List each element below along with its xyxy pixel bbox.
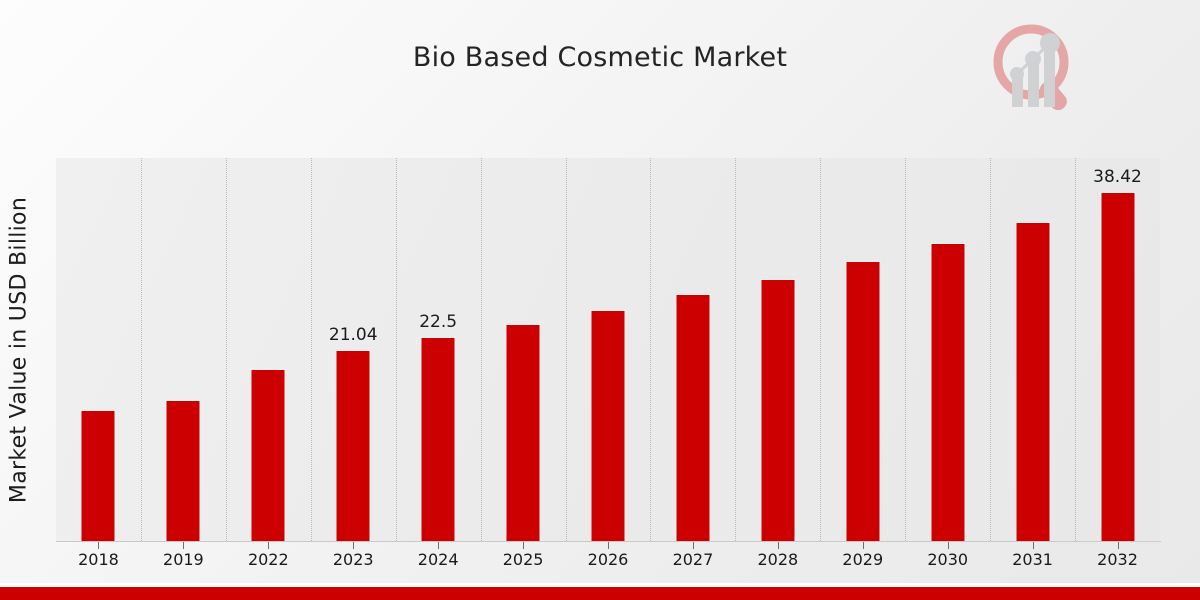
bar-group[interactable] [905,158,990,541]
x-axis-label-2022: 2022 [248,550,289,569]
x-axis-label-2025: 2025 [503,550,544,569]
bar-2024[interactable] [421,337,456,541]
x-axis-label-2026: 2026 [588,550,629,569]
bar-value-label-2024: 22.5 [419,312,457,332]
x-tick [98,542,99,549]
bar-2030[interactable] [930,243,965,541]
x-axis-label-2027: 2027 [673,550,714,569]
x-tick [863,542,864,549]
bar-2029[interactable] [845,261,880,541]
y-axis-title: Market Value in USD Billion [7,197,32,503]
bar-group[interactable] [56,158,141,541]
bar-value-label-2023: 21.04 [329,325,378,345]
x-axis-label-2018: 2018 [78,550,119,569]
bar-series: 21.0422.538.42 [56,158,1160,541]
bar-group[interactable] [650,158,735,541]
x-tick [608,542,609,549]
bar-group[interactable] [566,158,651,541]
x-axis-label-2031: 2031 [1012,550,1053,569]
bar-group[interactable] [735,158,820,541]
bar-2028[interactable] [760,279,795,541]
bar-group[interactable] [820,158,905,541]
bar-value-label-2032: 38.42 [1093,167,1142,187]
x-tick [268,542,269,549]
bar-2032[interactable] [1100,192,1135,541]
bottom-banner [0,587,1200,600]
x-tick [778,542,779,549]
x-tick [523,542,524,549]
x-axis-label-2023: 2023 [333,550,374,569]
bar-2025[interactable] [506,324,541,541]
bar-2027[interactable] [675,294,710,541]
x-tick [693,542,694,549]
x-axis-label-2029: 2029 [842,550,883,569]
x-axis-label-2024: 2024 [418,550,459,569]
bar-2026[interactable] [590,310,625,541]
x-axis-labels: 2018201920222023202420252026202720282029… [56,550,1160,574]
bar-group[interactable] [481,158,566,541]
x-tick [183,542,184,549]
bar-2022[interactable] [251,369,286,541]
bar-group[interactable]: 38.42 [1075,158,1160,541]
bar-2018[interactable] [81,410,116,541]
x-axis-ticks [56,542,1160,550]
x-axis-label-2019: 2019 [163,550,204,569]
x-tick [948,542,949,549]
chart-title: Bio Based Cosmetic Market [0,42,1200,73]
bar-group[interactable]: 21.04 [311,158,396,541]
bar-group[interactable] [141,158,226,541]
bar-group[interactable] [226,158,311,541]
chart-figure: Bio Based Cosmetic Market Market Value i… [0,0,1200,600]
plot-area: 21.0422.538.42 [56,158,1160,541]
bar-2023[interactable] [336,350,371,541]
bar-2019[interactable] [166,400,201,541]
bar-2031[interactable] [1015,222,1050,541]
bar-group[interactable] [990,158,1075,541]
x-axis-label-2032: 2032 [1097,550,1138,569]
x-tick [353,542,354,549]
x-axis-label-2028: 2028 [757,550,798,569]
x-tick [1033,542,1034,549]
x-tick [1118,542,1119,549]
x-axis-label-2030: 2030 [927,550,968,569]
bar-group[interactable]: 22.5 [396,158,481,541]
y-axis-title-container: Market Value in USD Billion [2,150,36,550]
x-tick [438,542,439,549]
